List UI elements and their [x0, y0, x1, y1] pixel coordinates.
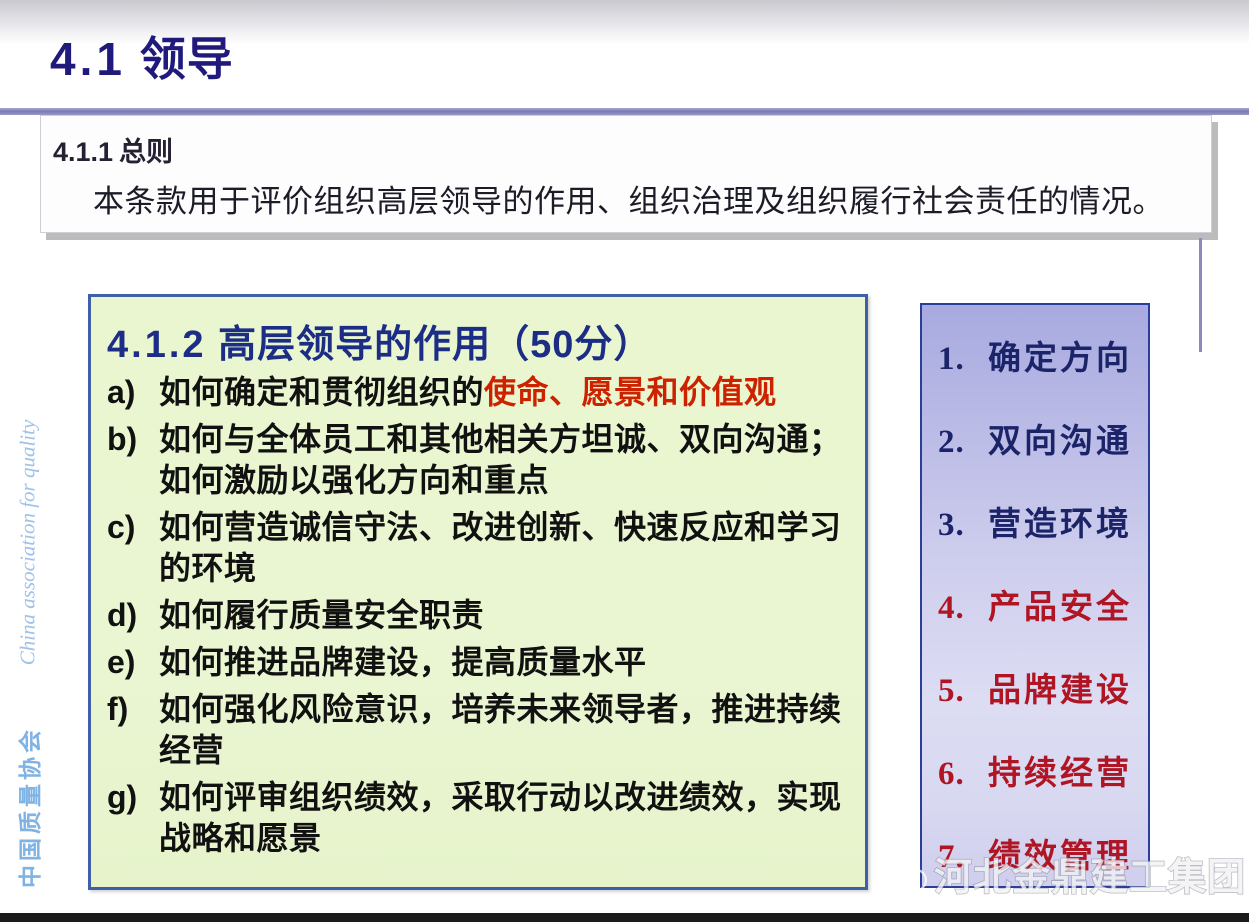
blue-panel-item-number: 5. — [922, 673, 988, 710]
wechat-icon — [872, 851, 928, 897]
green-content-box: 4.1.2 高层领导的作用（50分） a)如何确定和贯彻组织的使命、愿景和价值观… — [88, 294, 868, 890]
green-box-heading-number: 4.1.2 — [107, 324, 207, 366]
slide-canvas: 4.1 领导 4.1.1总则 本条款用于评价组织高层领导的作用、组织治理及组织履… — [0, 0, 1249, 922]
blue-panel-item-number: 4. — [922, 590, 988, 627]
green-list-item-marker: f) — [103, 689, 159, 730]
green-list-item-text-plain: 如何确定和贯彻组织的 — [159, 374, 484, 410]
green-box-heading: 4.1.2 高层领导的作用（50分） — [107, 313, 853, 368]
bottom-strip — [0, 913, 1249, 922]
blue-panel-item-number: 2. — [922, 424, 988, 461]
green-list-item-marker: c) — [103, 507, 159, 548]
blue-panel-item: 3.营造环境 — [922, 497, 1148, 545]
blue-panel-item-label: 营造环境 — [988, 497, 1132, 545]
title-underline-rule — [0, 108, 1249, 115]
green-list-item: c)如何营造诚信守法、改进创新、快速反应和学习的环境 — [103, 507, 853, 589]
green-list-item-text: 如何与全体员工和其他相关方坦诚、双向沟通；如何激励以强化方向和重点 — [159, 419, 853, 501]
green-list-item-marker: d) — [103, 595, 159, 636]
green-list-item-text-plain: 如何履行质量安全职责 — [159, 597, 484, 633]
subtitle-body-text: 本条款用于评价组织高层领导的作用、组织治理及组织履行社会责任的情况。 — [93, 176, 1164, 221]
subtitle-number: 4.1.1 — [53, 137, 113, 167]
green-list-item: e)如何推进品牌建设，提高质量水平 — [103, 642, 853, 683]
blue-panel-item: 2.双向沟通 — [922, 414, 1148, 462]
subtitle-title: 总则 — [119, 137, 173, 167]
blue-panel-item-label: 品牌建设 — [988, 663, 1132, 711]
green-list-item: f)如何强化风险意识，培养未来领导者，推进持续经营 — [103, 689, 853, 771]
green-list-item-text: 如何推进品牌建设，提高质量水平 — [159, 642, 853, 683]
green-list-item-marker: b) — [103, 419, 159, 460]
page-title: 4.1 领导 — [50, 35, 234, 83]
blue-panel-item-label: 双向沟通 — [988, 414, 1132, 462]
caq-watermark-chinese: 中国质量协会 — [11, 682, 45, 922]
blue-panel-item-number: 6. — [922, 756, 988, 793]
green-box-list: a)如何确定和贯彻组织的使命、愿景和价值观b)如何与全体员工和其他相关方坦诚、双… — [103, 372, 853, 858]
green-list-item-marker: a) — [103, 372, 159, 413]
green-list-item-marker: e) — [103, 642, 159, 683]
blue-panel-item: 6.持续经营 — [922, 746, 1148, 794]
blue-summary-panel: 1.确定方向2.双向沟通3.营造环境4.产品安全5.品牌建设6.持续经营7.绩效… — [920, 303, 1150, 888]
green-list-item-text-plain: 如何推进品牌建设，提高质量水平 — [159, 644, 647, 680]
green-list-item-text: 如何确定和贯彻组织的使命、愿景和价值观 — [159, 372, 853, 413]
blue-panel-item: 1.确定方向 — [922, 331, 1148, 379]
green-list-item-text: 如何强化风险意识，培养未来领导者，推进持续经营 — [159, 689, 853, 771]
green-list-item: g)如何评审组织绩效，采取行动以改进绩效，实现战略和愿景 — [103, 777, 853, 859]
green-list-item: a)如何确定和贯彻组织的使命、愿景和价值观 — [103, 372, 853, 413]
blue-panel-item-label: 持续经营 — [988, 746, 1132, 794]
green-box-heading-text: 高层领导的作用（50分） — [218, 324, 652, 366]
green-list-item-text-plain: 如何营造诚信守法、改进创新、快速反应和学习的环境 — [159, 509, 842, 586]
blue-panel-item-number: 1. — [922, 341, 988, 378]
blue-panel-item-label: 确定方向 — [988, 331, 1132, 379]
green-list-item-marker: g) — [103, 777, 159, 818]
subtitle-heading: 4.1.1总则 — [53, 130, 173, 169]
green-list-item-emphasis: 使命、愿景和价值观 — [484, 374, 777, 410]
green-list-item: b)如何与全体员工和其他相关方坦诚、双向沟通；如何激励以强化方向和重点 — [103, 419, 853, 501]
page-title-number: 4.1 — [50, 33, 126, 85]
green-list-item: d)如何履行质量安全职责 — [103, 595, 853, 636]
blue-panel-item: 4.产品安全 — [922, 580, 1148, 628]
blue-panel-item: 5.品牌建设 — [922, 663, 1148, 711]
green-list-item-text-plain: 如何与全体员工和其他相关方坦诚、双向沟通；如何激励以强化方向和重点 — [159, 421, 842, 498]
connector-line — [1199, 238, 1202, 352]
green-list-item-text-plain: 如何评审组织绩效，采取行动以改进绩效，实现战略和愿景 — [159, 779, 842, 856]
wechat-watermark: 河北金鼎建工集团 — [872, 846, 1246, 901]
blue-panel-item-label: 产品安全 — [988, 580, 1132, 628]
page-title-text: 领导 — [140, 33, 234, 85]
green-list-item-text: 如何履行质量安全职责 — [159, 595, 853, 636]
green-list-item-text: 如何评审组织绩效，采取行动以改进绩效，实现战略和愿景 — [159, 777, 853, 859]
wechat-watermark-text: 河北金鼎建工集团 — [934, 846, 1246, 901]
subtitle-panel: 4.1.1总则 本条款用于评价组织高层领导的作用、组织治理及组织履行社会责任的情… — [40, 115, 1212, 233]
caq-watermark: China association for quality 中国质量协会 — [0, 400, 52, 870]
blue-panel-item-number: 3. — [922, 507, 988, 544]
green-list-item-text-plain: 如何强化风险意识，培养未来领导者，推进持续经营 — [159, 691, 842, 768]
green-list-item-text: 如何营造诚信守法、改进创新、快速反应和学习的环境 — [159, 507, 853, 589]
